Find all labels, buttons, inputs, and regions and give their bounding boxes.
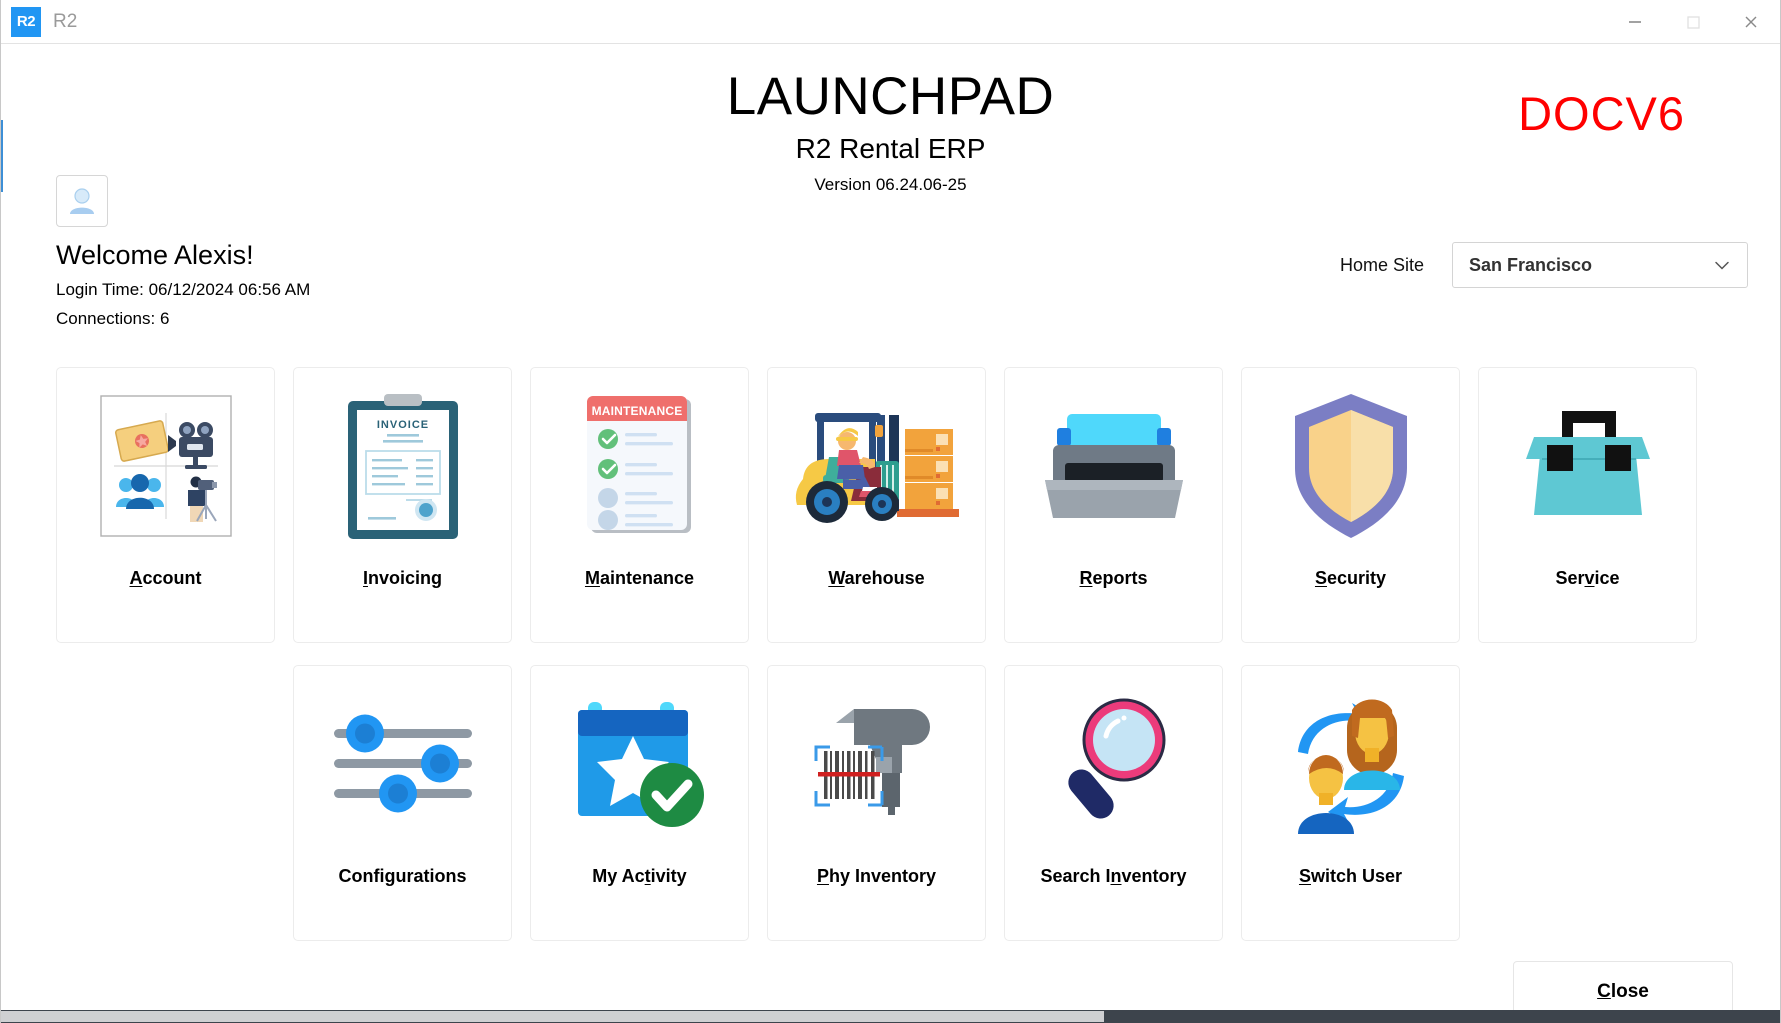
- tile-configurations[interactable]: Configurations: [293, 665, 512, 941]
- tile-service[interactable]: Service: [1478, 367, 1697, 643]
- magnifier-icon: [1005, 666, 1222, 862]
- welcome-message: Welcome Alexis!: [56, 240, 310, 271]
- page-title: LAUNCHPAD: [1, 68, 1780, 125]
- calendar-star-check-icon: [531, 666, 748, 862]
- home-site-group: Home Site San Francisco: [1340, 242, 1748, 288]
- home-site-select[interactable]: San Francisco: [1452, 242, 1748, 288]
- tile-label-security: Security: [1315, 568, 1386, 589]
- close-window-button[interactable]: [1722, 0, 1780, 44]
- invoice-clipboard-icon: INVOICE: [294, 368, 511, 564]
- tile-my-activity[interactable]: My Activity: [530, 665, 749, 941]
- tile-label-switch-user: Switch User: [1299, 866, 1402, 887]
- user-info-block: Welcome Alexis! Login Time: 06/12/2024 0…: [56, 175, 310, 329]
- minimize-button[interactable]: [1606, 0, 1664, 44]
- tile-label-search-inventory: Search Inventory: [1040, 866, 1186, 887]
- login-time: Login Time: 06/12/2024 06:56 AM: [56, 280, 310, 300]
- horizontal-scrollbar-thumb[interactable]: [1, 1011, 1104, 1022]
- left-edge-accent: [1, 120, 3, 192]
- window-title: R2: [53, 11, 77, 33]
- tile-security[interactable]: Security: [1241, 367, 1460, 643]
- tile-account[interactable]: Account: [56, 367, 275, 643]
- tile-label-my-activity: My Activity: [592, 866, 686, 887]
- minimize-icon: [1625, 12, 1645, 32]
- title-bar: R2 R2: [1, 0, 1780, 44]
- shield-icon: [1242, 368, 1459, 564]
- tile-switch-user[interactable]: Switch User: [1241, 665, 1460, 941]
- tile-invoicing[interactable]: INVOICE: [293, 367, 512, 643]
- forklift-icon: [768, 368, 985, 564]
- toolbox-icon: [1479, 368, 1696, 564]
- home-site-label: Home Site: [1340, 255, 1424, 276]
- user-avatar-icon: [65, 184, 99, 218]
- tile-row-2: Configurations My Activity: [56, 665, 1718, 941]
- app-subtitle: R2 Rental ERP: [1, 133, 1780, 165]
- tile-reports[interactable]: Reports: [1004, 367, 1223, 643]
- barcode-scanner-icon: [768, 666, 985, 862]
- svg-text:MAINTENANCE: MAINTENANCE: [591, 404, 682, 418]
- home-site-value: San Francisco: [1469, 255, 1711, 276]
- avatar[interactable]: [56, 175, 108, 227]
- maintenance-checklist-icon: MAINTENANCE: [531, 368, 748, 564]
- tile-label-service: Service: [1555, 568, 1619, 589]
- app-logo-icon: R2: [11, 7, 41, 37]
- doc-version-badge: DOCV6: [1518, 86, 1685, 141]
- connections-count: Connections: 6: [56, 309, 310, 329]
- chevron-down-icon: [1711, 254, 1733, 276]
- tile-search-inventory[interactable]: Search Inventory: [1004, 665, 1223, 941]
- tile-maintenance[interactable]: MAINTENANCE: [530, 367, 749, 643]
- sliders-icon: [294, 666, 511, 862]
- tile-label-phy-inventory: Phy Inventory: [817, 866, 936, 887]
- printer-icon: [1005, 368, 1222, 564]
- tile-row-1: Account INVOICE: [56, 367, 1718, 643]
- tile-label-reports: Reports: [1079, 568, 1147, 589]
- horizontal-scrollbar[interactable]: [1, 1010, 1780, 1023]
- tile-label-warehouse: Warehouse: [828, 568, 924, 589]
- account-grid-icon: [57, 368, 274, 564]
- switch-user-icon: [1242, 666, 1459, 862]
- tile-grid: Account INVOICE: [56, 367, 1718, 941]
- tile-label-maintenance: Maintenance: [585, 568, 694, 589]
- maximize-button[interactable]: [1664, 0, 1722, 44]
- tile-label-invoicing: Invoicing: [363, 568, 442, 589]
- window-controls: [1606, 0, 1780, 44]
- close-button-label: Close: [1597, 981, 1649, 1003]
- tile-label-configurations: Configurations: [339, 866, 467, 887]
- tile-label-account: Account: [129, 568, 201, 589]
- tile-warehouse[interactable]: Warehouse: [767, 367, 986, 643]
- launchpad-window: R2 R2 LAUNCHPAD R2 Renta: [0, 0, 1781, 1023]
- tile-phy-inventory[interactable]: Phy Inventory: [767, 665, 986, 941]
- svg-text:INVOICE: INVOICE: [376, 419, 428, 431]
- close-icon: [1741, 12, 1761, 32]
- maximize-icon: [1683, 12, 1703, 32]
